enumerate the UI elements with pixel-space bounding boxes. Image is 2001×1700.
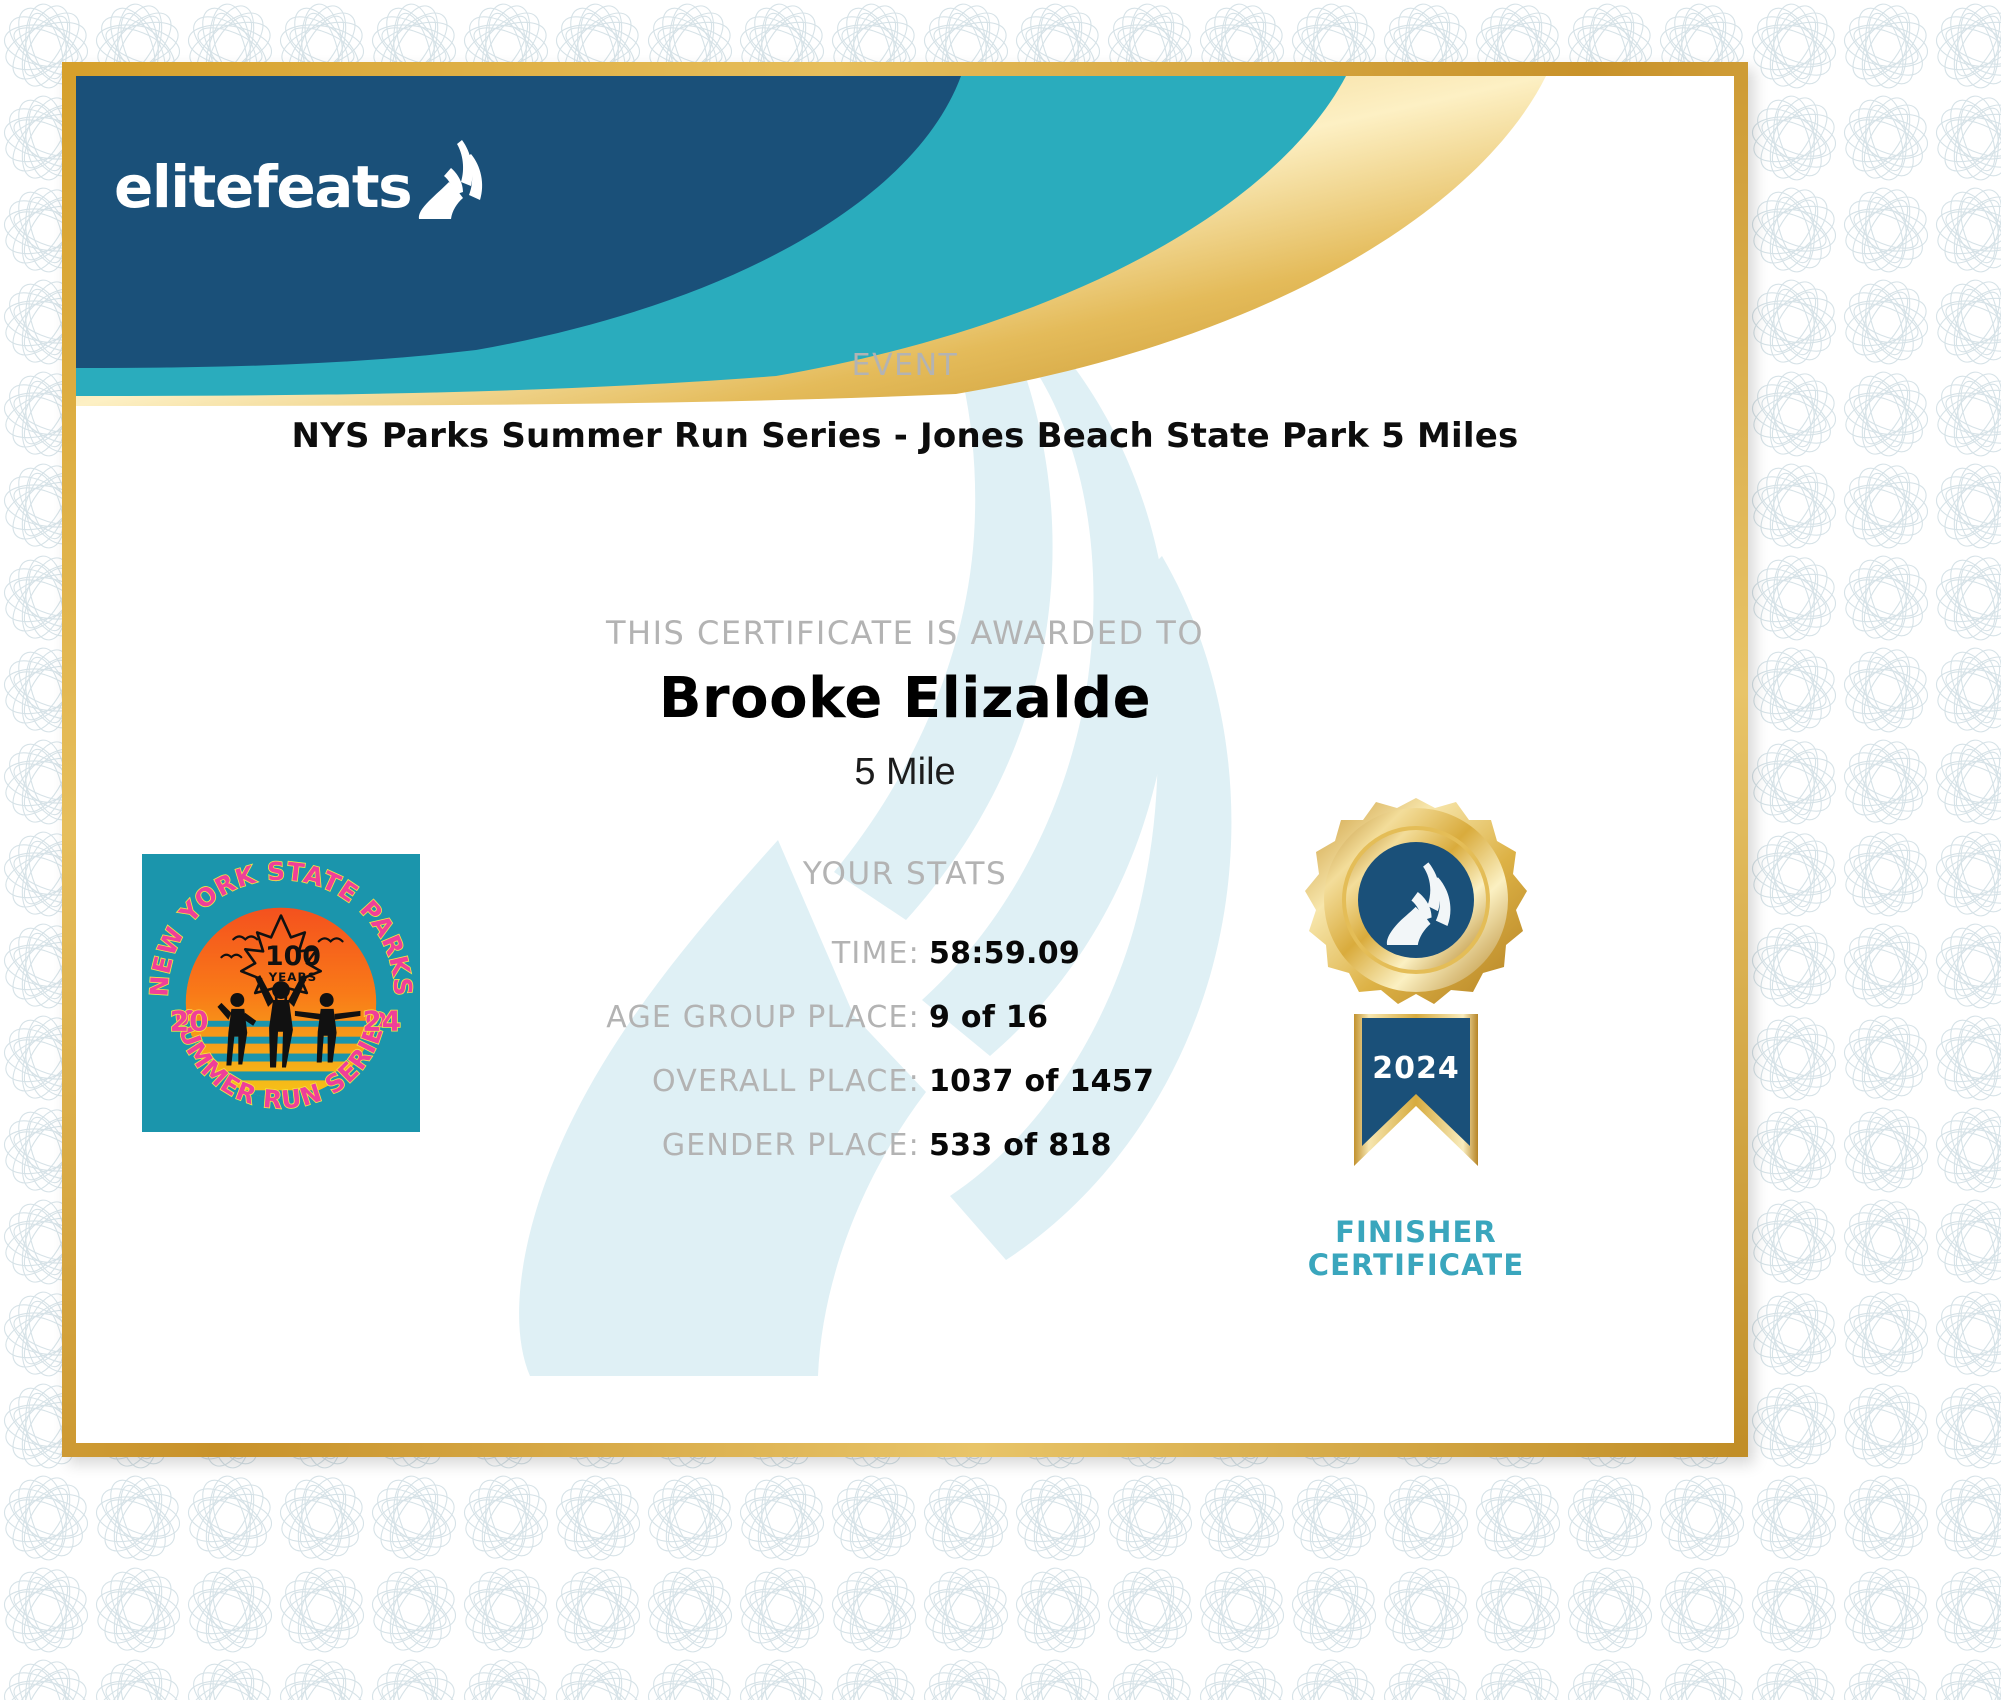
finisher-caption: FINISHER CERTIFICATE bbox=[1221, 1216, 1611, 1282]
certificate-gold-frame: elitefeats EVENT NYS Parks Summer Run Se… bbox=[62, 62, 1748, 1457]
badge-year-left: 20 bbox=[170, 1005, 209, 1038]
stat-value: 533 of 818 bbox=[929, 1128, 1155, 1163]
badge-year-right: 24 bbox=[362, 1005, 401, 1038]
stat-key: GENDER PLACE: bbox=[597, 1128, 929, 1163]
nys-parks-summer-run-series-logo: 100 YEARS bbox=[142, 854, 420, 1132]
stat-value: 9 of 16 bbox=[929, 1000, 1155, 1035]
finisher-medal: 2024 bbox=[1221, 794, 1611, 1282]
race-distance: 5 Mile bbox=[76, 751, 1734, 794]
stat-key: AGE GROUP PLACE: bbox=[597, 1000, 929, 1035]
event-name: NYS Parks Summer Run Series - Jones Beac… bbox=[76, 416, 1734, 456]
finisher-caption-line1: FINISHER bbox=[1221, 1216, 1611, 1249]
awarded-to-label: THIS CERTIFICATE IS AWARDED TO bbox=[76, 614, 1734, 652]
badge-100: 100 bbox=[265, 941, 321, 972]
stat-value: 1037 of 1457 bbox=[929, 1064, 1155, 1099]
medal-ribbon-year: 2024 bbox=[1372, 1051, 1460, 1086]
badge-years: YEARS bbox=[268, 970, 318, 984]
stat-value: 58:59.09 bbox=[929, 936, 1155, 971]
winged-foot-icon bbox=[413, 138, 487, 222]
certificate-page: elitefeats EVENT NYS Parks Summer Run Se… bbox=[0, 0, 2001, 1700]
finisher-caption-line2: CERTIFICATE bbox=[1221, 1249, 1611, 1282]
recipient-name: Brooke Elizalde bbox=[76, 666, 1734, 731]
certificate-body: elitefeats EVENT NYS Parks Summer Run Se… bbox=[76, 76, 1734, 1443]
event-label: EVENT bbox=[76, 348, 1734, 383]
elitefeats-logo: elitefeats bbox=[114, 138, 487, 216]
stat-key: OVERALL PLACE: bbox=[597, 1064, 929, 1099]
brand-wordmark: elitefeats bbox=[114, 158, 411, 216]
stat-key: TIME: bbox=[597, 936, 929, 971]
finisher-medal-rosette-icon: 2024 bbox=[1282, 794, 1550, 1214]
